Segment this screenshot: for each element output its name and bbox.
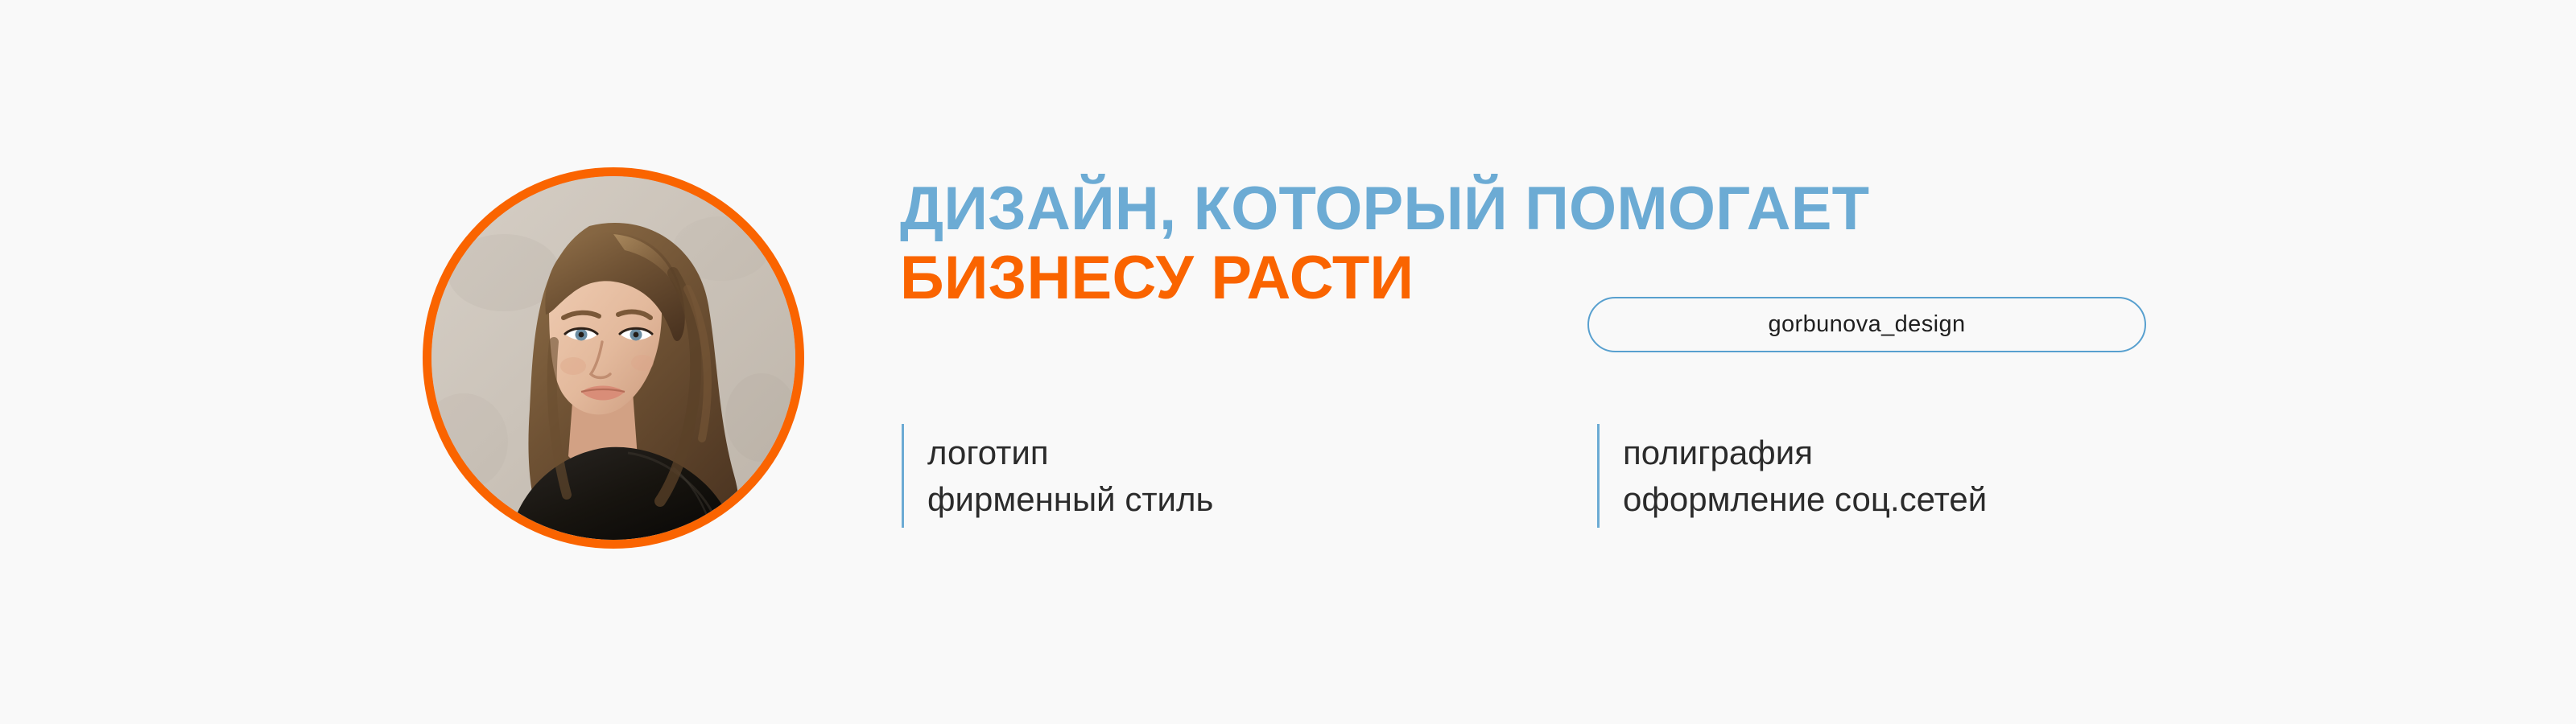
avatar-photo [431, 176, 795, 540]
service-item: фирменный стиль [927, 479, 1213, 520]
avatar [423, 167, 804, 549]
handle-text: gorbunova_design [1768, 311, 1965, 338]
service-column-items: логотип фирменный стиль [904, 424, 1213, 528]
headline-line-1: ДИЗАЙН, КОТОРЫЙ ПОМОГАЕТ [900, 179, 1869, 248]
service-column-2: полиграфия оформление соц.сетей [1597, 424, 1987, 528]
service-item: логотип [927, 432, 1213, 473]
service-column-1: логотип фирменный стиль [902, 424, 1213, 528]
promo-banner: ДИЗАЙН, КОТОРЫЙ ПОМОГАЕТ БИЗНЕСУ РАСТИ g… [0, 0, 2576, 724]
service-column-items: полиграфия оформление соц.сетей [1600, 424, 1987, 528]
service-item: полиграфия [1623, 432, 1987, 473]
service-item: оформление соц.сетей [1623, 479, 1987, 520]
handle-pill[interactable]: gorbunova_design [1587, 297, 2146, 352]
